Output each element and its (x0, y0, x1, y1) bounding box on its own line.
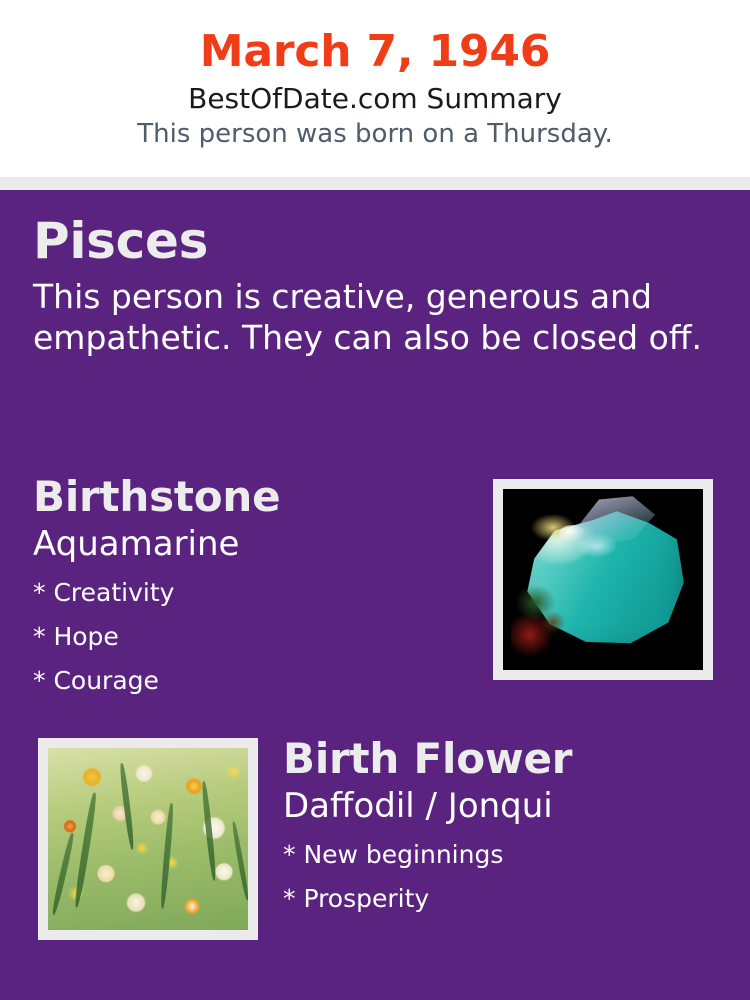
birthflower-heading: Birth Flower (283, 734, 717, 784)
header-divider (0, 177, 750, 190)
birthstone-trait-list: * Creativity * Hope * Courage (33, 565, 473, 703)
page-title: March 7, 1946 (0, 0, 750, 78)
leaf-shape (159, 803, 174, 909)
list-item: * Prosperity (283, 877, 717, 921)
card-body: Pisces This person is creative, generous… (0, 190, 750, 1000)
birthstone-name: Aquamarine (33, 522, 473, 565)
birthstone-heading: Birthstone (33, 472, 473, 522)
list-item: * Courage (33, 659, 473, 703)
birthflower-section: Birth Flower Daffodil / Jonqui * New beg… (283, 734, 717, 921)
daffodil-flowers-photo (48, 748, 248, 930)
leaf-shape (73, 792, 98, 908)
leaf-shape (201, 781, 217, 881)
birthflower-name: Daffodil / Jonqui (283, 784, 717, 827)
zodiac-section: Pisces This person is creative, generous… (33, 212, 717, 358)
list-item: * Hope (33, 615, 473, 659)
list-item: * New beginnings (283, 833, 717, 877)
birthstone-section: Birthstone Aquamarine * Creativity * Hop… (33, 472, 473, 703)
birthflower-trait-list: * New beginnings * Prosperity (283, 827, 717, 921)
leaf-shape (51, 832, 76, 915)
site-subtitle: BestOfDate.com Summary (0, 78, 750, 116)
aquamarine-crystal-photo (503, 489, 703, 670)
birth-day-tagline: This person was born on a Thursday. (0, 116, 750, 150)
card-header: March 7, 1946 BestOfDate.com Summary Thi… (0, 0, 750, 177)
birthflower-image-frame (38, 738, 258, 940)
birthstone-image-frame (493, 479, 713, 680)
leaf-shape (231, 821, 248, 901)
zodiac-description: This person is creative, generous and em… (33, 270, 705, 358)
summary-card: March 7, 1946 BestOfDate.com Summary Thi… (0, 0, 750, 1000)
list-item: * Creativity (33, 571, 473, 615)
zodiac-sign-name: Pisces (33, 212, 717, 270)
crystal-inclusion-red (511, 583, 583, 659)
leaf-shape (119, 763, 136, 850)
